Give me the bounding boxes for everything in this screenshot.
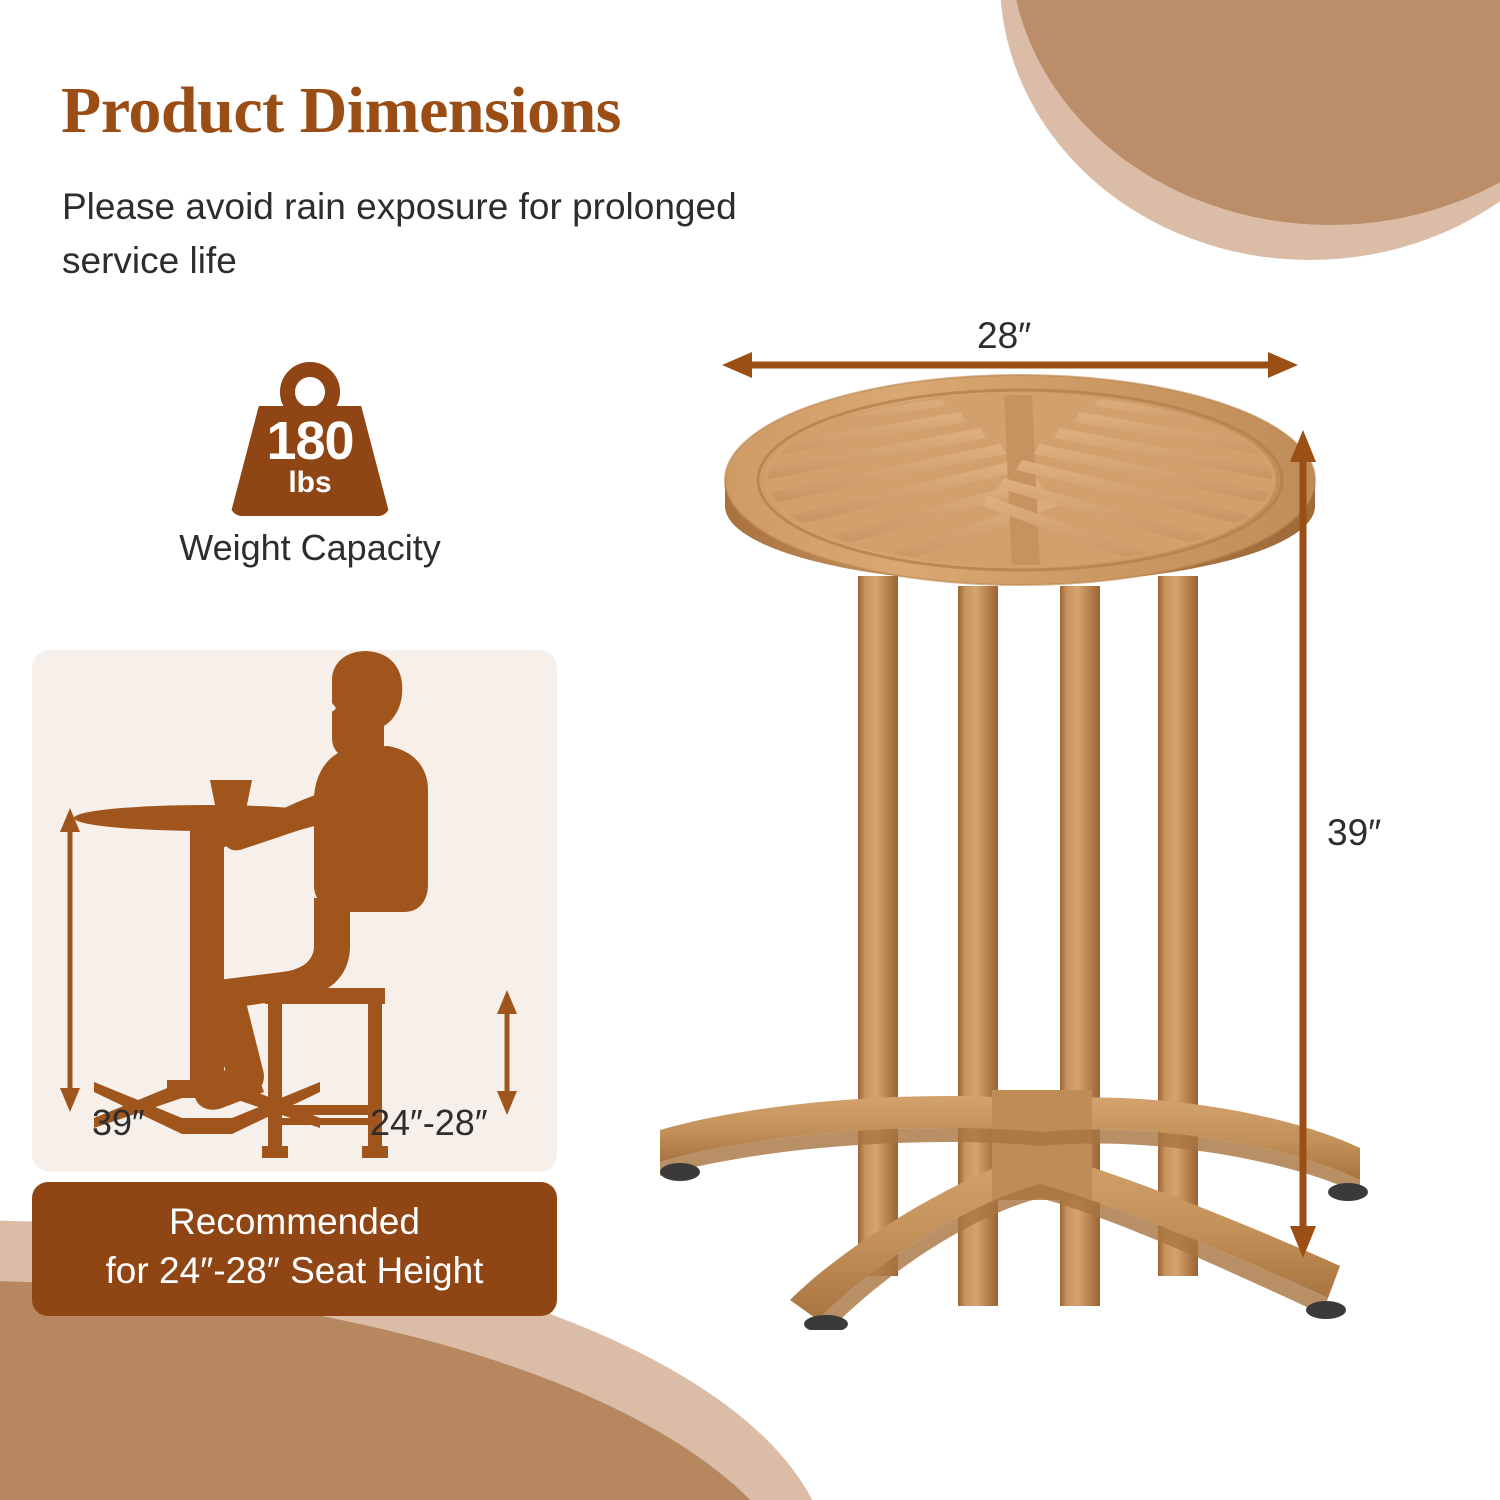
infographic-canvas: Product Dimensions Please avoid rain exp…	[0, 0, 1500, 1500]
page-subtitle: Please avoid rain exposure for prolonged…	[62, 180, 782, 287]
recommendation-line-2: for 24″-28″ Seat Height	[32, 1247, 557, 1296]
weight-capacity-label: Weight Capacity	[110, 527, 510, 569]
recommendation-banner: Recommended for 24″-28″ Seat Height	[32, 1182, 557, 1316]
weight-unit: lbs	[230, 468, 390, 498]
seated-person-illustration	[32, 650, 557, 1172]
table-height-label-panel: 39″	[92, 1102, 145, 1144]
weight-icon: 180 lbs	[230, 362, 390, 517]
recommendation-line-1: Recommended	[32, 1198, 557, 1247]
weight-capacity-block: 180 lbs Weight Capacity	[120, 362, 500, 517]
page-title: Product Dimensions	[61, 73, 621, 149]
decor-circle-top-right-dark	[1010, 0, 1500, 225]
decor-circle-top-right-light	[1000, 0, 1500, 260]
diameter-label: 28″	[977, 315, 1031, 357]
height-label: 39″	[1327, 812, 1381, 854]
seat-height-label-panel: 24″-28″	[370, 1102, 488, 1144]
seat-height-panel	[32, 650, 557, 1172]
product-image-bar-table	[640, 300, 1400, 1330]
weight-value: 180	[230, 414, 390, 468]
